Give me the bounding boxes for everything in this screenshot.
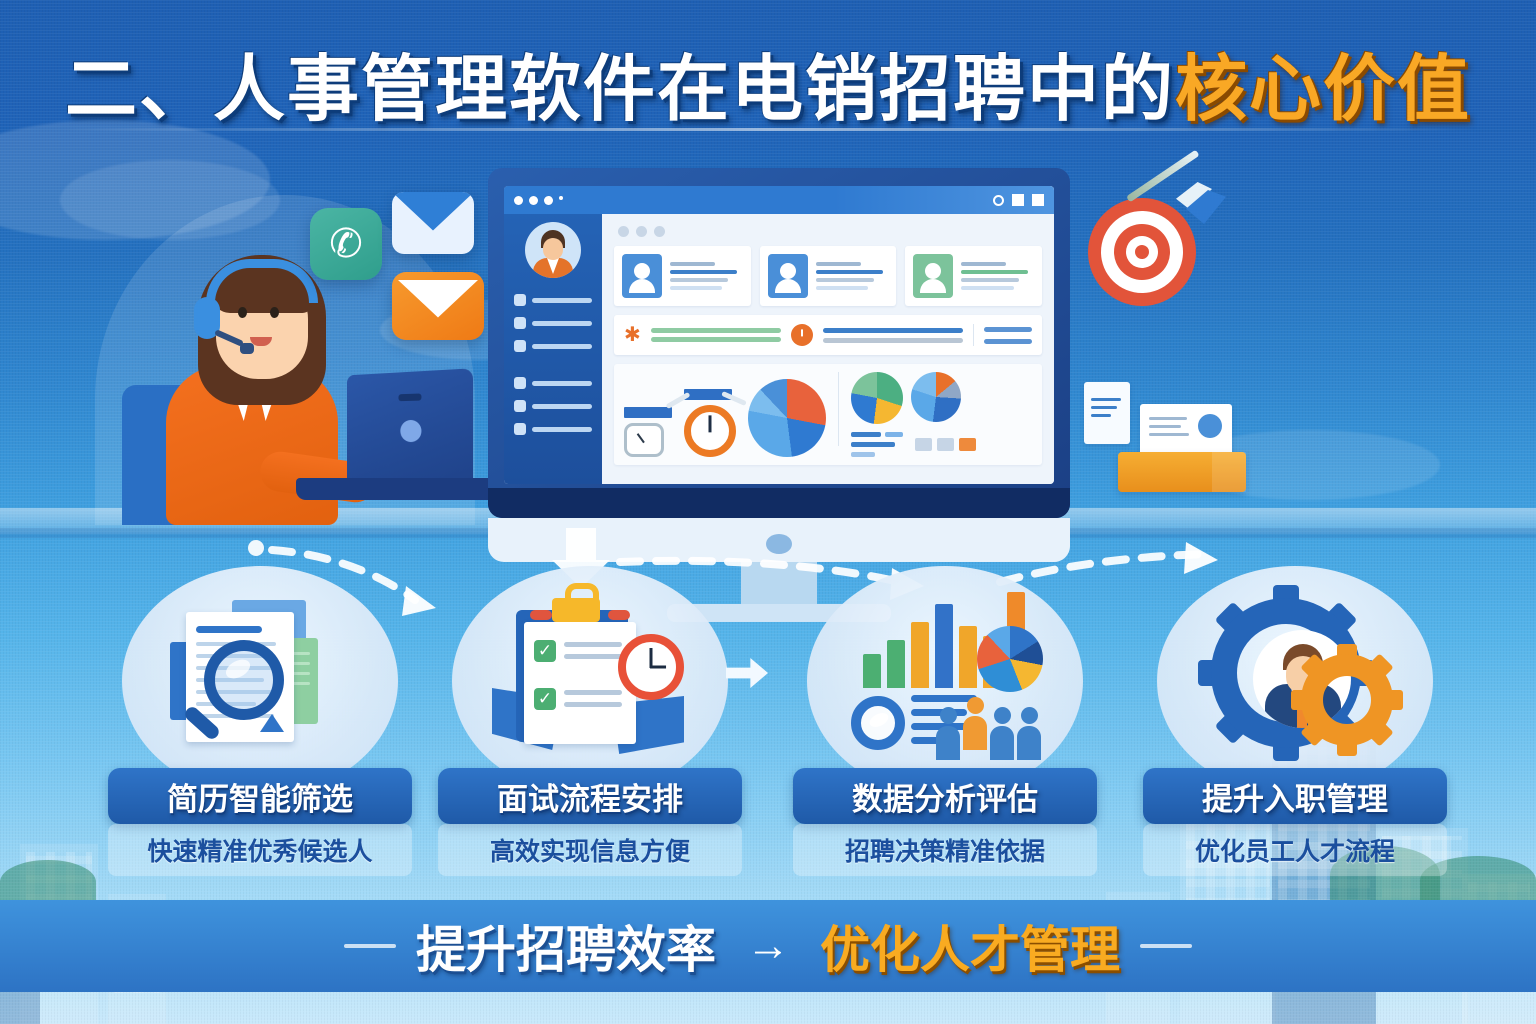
sidebar-item[interactable] bbox=[514, 294, 592, 306]
page-title: 二、人事管理软件在电销招聘中的核心价值 bbox=[0, 36, 1536, 128]
person-icon bbox=[622, 254, 662, 298]
sidebar-item[interactable] bbox=[514, 400, 592, 412]
agent-eye-left bbox=[238, 307, 247, 318]
envelope-flap bbox=[392, 192, 474, 254]
title-main: 二、人事管理软件在电销招聘中的 bbox=[65, 50, 1175, 130]
photo-placeholder bbox=[1198, 414, 1222, 438]
titlebar-dots bbox=[514, 196, 563, 205]
nav-icon bbox=[514, 317, 526, 329]
maximize-icon[interactable] bbox=[1012, 194, 1024, 206]
clock-icon bbox=[791, 324, 813, 346]
person-icon bbox=[768, 254, 808, 298]
card-label-pill[interactable]: 数据分析评估 bbox=[793, 768, 1097, 824]
chart-panel bbox=[614, 364, 1042, 465]
titlebar-controls[interactable] bbox=[993, 194, 1044, 206]
sidebar-item[interactable] bbox=[514, 340, 592, 352]
profile-card[interactable] bbox=[760, 246, 897, 306]
magnifier-documents-icon bbox=[160, 592, 360, 760]
chart-people-magnifier-icon bbox=[845, 592, 1045, 760]
restore-icon[interactable] bbox=[1032, 194, 1044, 206]
people-group-icon bbox=[936, 697, 1041, 760]
window-tab-dots[interactable] bbox=[614, 220, 1042, 246]
footer-dash-right bbox=[1140, 944, 1192, 948]
document-tray bbox=[1118, 452, 1246, 492]
pie-chart-large bbox=[748, 379, 826, 457]
footer-dash-left bbox=[344, 944, 396, 948]
app-titlebar bbox=[504, 186, 1054, 214]
app-main-content: ✱ bbox=[602, 186, 1054, 484]
chart-tag bbox=[624, 407, 672, 418]
card-subtitle: 优化员工人才流程 bbox=[1143, 832, 1447, 868]
card-label-pill[interactable]: 面试流程安排 bbox=[438, 768, 742, 824]
document-icon bbox=[1084, 382, 1130, 444]
nav-icon bbox=[514, 423, 526, 435]
title-accent: 核心价值 bbox=[1175, 50, 1471, 130]
nav-icon bbox=[514, 340, 526, 352]
footer-text-left: 提升招聘效率 bbox=[416, 910, 716, 982]
laptop-logo bbox=[400, 420, 421, 442]
mail-orange-icon[interactable] bbox=[392, 272, 484, 340]
card-label: 数据分析评估 bbox=[852, 774, 1038, 819]
envelope-flap bbox=[398, 280, 478, 332]
monitor-chin bbox=[488, 488, 1070, 518]
infographic-poster: 二、人事管理软件在电销招聘中的核心价值 ✆ bbox=[0, 0, 1536, 1024]
title-underline bbox=[60, 128, 1476, 131]
footer-banner: 提升招聘效率 → 优化人才管理 bbox=[0, 900, 1536, 992]
sidebar-item[interactable] bbox=[514, 423, 592, 435]
pie-chart-b bbox=[911, 372, 961, 422]
card-label: 简历智能筛选 bbox=[167, 774, 353, 819]
status-panel: ✱ bbox=[614, 315, 1042, 355]
footer-arrow-icon: → bbox=[736, 921, 800, 971]
card-label-pill[interactable]: 提升入职管理 bbox=[1143, 768, 1447, 824]
nav-icon bbox=[514, 377, 526, 389]
footer-text-right: 优化人才管理 bbox=[820, 910, 1120, 982]
card-subtitle: 招聘决策精准依据 bbox=[793, 832, 1097, 868]
desktop-monitor: ✱ bbox=[488, 168, 1070, 518]
chart-legend bbox=[851, 432, 903, 457]
headset-mic-icon bbox=[240, 343, 254, 354]
profile-cards-row bbox=[614, 246, 1042, 306]
card-label-pill[interactable]: 简历智能筛选 bbox=[108, 768, 412, 824]
wall-clock-icon bbox=[624, 423, 664, 457]
card-subtitle: 高效实现信息方便 bbox=[438, 832, 742, 868]
agent-eye-right bbox=[270, 307, 279, 318]
feature-cards: 简历智能筛选 快速精准优秀候选人 ✓ ✓ bbox=[0, 560, 1536, 890]
gear-person-icon bbox=[1195, 592, 1395, 760]
person-icon bbox=[913, 254, 953, 298]
laptop-keyboard-base bbox=[296, 478, 502, 500]
phone-icon[interactable]: ✆ bbox=[310, 208, 382, 280]
profile-card[interactable] bbox=[614, 246, 751, 306]
card-label: 提升入职管理 bbox=[1202, 774, 1388, 819]
monitor-screen: ✱ bbox=[504, 186, 1054, 484]
sidebar-nav[interactable] bbox=[504, 294, 602, 446]
clipboard-clock-icon: ✓ ✓ bbox=[490, 592, 690, 760]
sidebar-item[interactable] bbox=[514, 377, 592, 389]
divider bbox=[973, 324, 974, 346]
target-dart-icon bbox=[1088, 198, 1196, 306]
star-icon: ✱ bbox=[624, 325, 641, 345]
pie-chart-a bbox=[851, 372, 903, 424]
chart-swatches bbox=[915, 438, 976, 451]
card-label: 面试流程安排 bbox=[497, 774, 683, 819]
profile-card[interactable] bbox=[905, 246, 1042, 306]
avatar[interactable] bbox=[525, 222, 581, 278]
nav-icon bbox=[514, 400, 526, 412]
gear-orange-icon bbox=[1301, 654, 1393, 746]
right-arrow-icon bbox=[726, 658, 768, 688]
laptop-screen bbox=[347, 368, 473, 488]
pie-chart-icon bbox=[977, 626, 1043, 692]
alarm-clock-icon bbox=[684, 405, 736, 457]
app-sidebar bbox=[504, 186, 602, 484]
magnifier-icon bbox=[851, 696, 905, 750]
record-icon[interactable] bbox=[993, 195, 1004, 206]
card-subtitle: 快速精准优秀候选人 bbox=[108, 832, 412, 868]
sidebar-item[interactable] bbox=[514, 317, 592, 329]
nav-icon bbox=[514, 294, 526, 306]
laptop-camera-icon bbox=[398, 393, 421, 401]
mail-blue-icon[interactable] bbox=[392, 192, 474, 254]
headset-band-icon bbox=[206, 259, 318, 303]
phone-glyph: ✆ bbox=[329, 224, 363, 264]
